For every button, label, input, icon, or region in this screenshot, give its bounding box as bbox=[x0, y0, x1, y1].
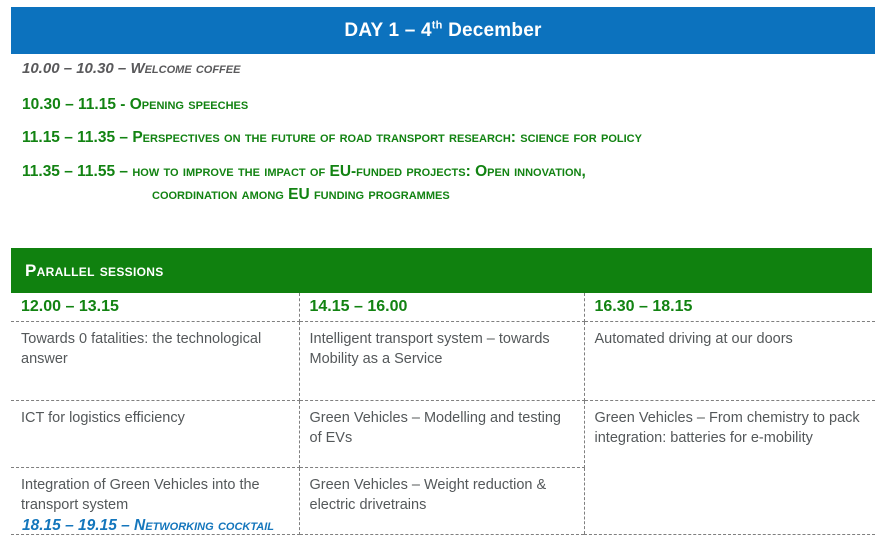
session-cell-r3c2: Green Vehicles – Weight reduction & elec… bbox=[299, 468, 584, 535]
agenda-item-time: 11.35 – 11.55 – bbox=[22, 163, 132, 180]
agenda-item-title: Welcome coffee bbox=[130, 60, 240, 77]
agenda-item-opening-speeches: 10.30 – 11.15 - Opening speeches bbox=[22, 95, 872, 114]
networking-time: 18.15 – 19.15 – bbox=[22, 517, 134, 534]
column-header-slot-1: 12.00 – 13.15 bbox=[11, 293, 299, 322]
column-header-slot-3: 16.30 – 18.15 bbox=[584, 293, 875, 322]
agenda-item-title-line2: coordination among EU funding programmes bbox=[22, 185, 872, 204]
table-row: Towards 0 fatalities: the technological … bbox=[11, 322, 875, 401]
agenda-page: DAY 1 – 4th December 10.00 – 10.30 – Wel… bbox=[0, 0, 886, 546]
session-cell-r1c3: Automated driving at our doors bbox=[584, 322, 875, 401]
table-header-row: 12.00 – 13.15 14.15 – 16.00 16.30 – 18.1… bbox=[11, 293, 875, 322]
agenda-item-time: 10.00 – 10.30 – bbox=[22, 60, 130, 77]
session-cell-r1c2: Intelligent transport system – towards M… bbox=[299, 322, 584, 401]
networking-title: Networking cocktail bbox=[134, 517, 274, 534]
table-row: ICT for logistics efficiency Green Vehic… bbox=[11, 401, 875, 468]
session-cell-r2c1: ICT for logistics efficiency bbox=[11, 401, 299, 468]
day-header-title: DAY 1 – 4th December bbox=[344, 20, 541, 42]
day-header-ordinal: th bbox=[432, 19, 443, 31]
agenda-item-title: Perspectives on the future of road trans… bbox=[132, 129, 642, 146]
session-cell-r2c3: Green Vehicles – From chemistry to pack … bbox=[584, 401, 875, 535]
parallel-sessions-table: 12.00 – 13.15 14.15 – 16.00 16.30 – 18.1… bbox=[11, 293, 875, 535]
parallel-sessions-label: Parallel sessions bbox=[11, 261, 164, 281]
session-cell-r1c1: Towards 0 fatalities: the technological … bbox=[11, 322, 299, 401]
agenda-item-impact-eu-funded: 11.35 – 11.55 – how to improve the impac… bbox=[22, 162, 872, 205]
agenda-item-time: 10.30 – 11.15 - bbox=[22, 96, 130, 113]
agenda-item-perspectives: 11.15 – 11.35 – Perspectives on the futu… bbox=[22, 128, 872, 147]
agenda-item-welcome-coffee: 10.00 – 10.30 – Welcome coffee bbox=[22, 60, 872, 79]
agenda-item-title: how to improve the impact of EU-funded p… bbox=[132, 163, 585, 180]
day-header-suffix: December bbox=[443, 20, 542, 41]
agenda-item-title: Opening speeches bbox=[130, 96, 248, 113]
session-cell-r2c2: Green Vehicles – Modelling and testing o… bbox=[299, 401, 584, 468]
networking-cocktail-line: 18.15 – 19.15 – Networking cocktail bbox=[22, 517, 274, 535]
column-header-slot-2: 14.15 – 16.00 bbox=[299, 293, 584, 322]
parallel-sessions-banner: Parallel sessions bbox=[11, 248, 872, 293]
day-header-bar: DAY 1 – 4th December bbox=[11, 7, 875, 54]
day-header-prefix: DAY 1 – 4 bbox=[344, 20, 431, 41]
agenda-list: 10.00 – 10.30 – Welcome coffee 10.30 – 1… bbox=[22, 60, 872, 218]
agenda-item-time: 11.15 – 11.35 – bbox=[22, 129, 132, 146]
